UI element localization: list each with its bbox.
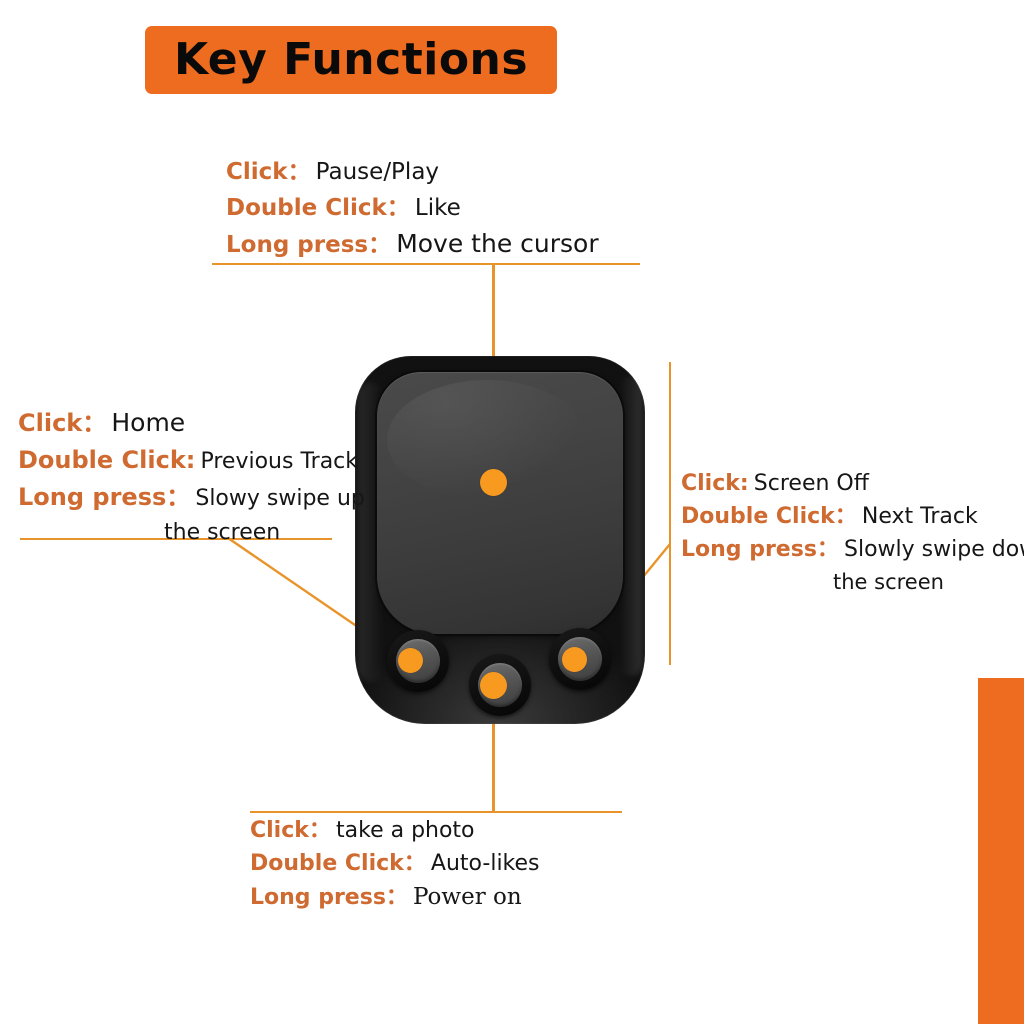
annotation-row: Click： take a photo <box>250 815 540 848</box>
corner-accent-block <box>978 678 1024 1024</box>
connector-line-bottom-horizontal <box>250 811 622 813</box>
annotation-row: Long press： Move the cursor <box>226 227 599 264</box>
marker-dot-right-button <box>562 647 587 672</box>
title-banner: Key Functions <box>145 26 557 94</box>
diagram-canvas: Key Functions Click： <box>0 0 1024 1024</box>
action-value-double-click: Like <box>415 195 461 221</box>
action-label-long-press: Long press： <box>250 885 408 910</box>
annotation-right-button: Click: Screen Off Double Click： Next Tra… <box>681 468 1024 597</box>
action-label-long-press: Long press： <box>226 232 391 258</box>
action-label-click: Click： <box>226 159 311 185</box>
action-label-long-press: Long press： <box>681 537 839 562</box>
action-label-long-press: Long press： <box>18 483 190 511</box>
page-title: Key Functions <box>174 38 528 82</box>
annotation-row: Double Click： Next Track <box>681 501 1024 534</box>
annotation-row: Double Click: Previous Track <box>18 443 365 480</box>
annotation-row: Double Click： Like <box>226 191 599 227</box>
action-value-double-click: Next Track <box>862 504 978 529</box>
annotation-left-button: Click： Home Double Click: Previous Track… <box>18 406 365 548</box>
action-label-double-click: Double Click： <box>681 504 857 529</box>
remote-control-device <box>355 356 645 724</box>
action-value-long-press: Slowy swipe up <box>195 486 365 511</box>
marker-dot-left-button <box>398 648 423 673</box>
action-label-double-click: Double Click： <box>226 195 410 221</box>
action-value-click: Screen Off <box>754 471 869 496</box>
annotation-row: Long press： Slowly swipe down <box>681 534 1024 567</box>
annotation-row: Long press： Slowy swipe up <box>18 480 365 517</box>
annotation-row: Click： Pause/Play <box>226 155 599 191</box>
action-value-long-press-continuation: the screen <box>18 517 365 548</box>
action-value-click: take a photo <box>336 818 475 843</box>
annotation-row: Double Click： Auto-likes <box>250 848 540 881</box>
action-value-long-press: Slowly swipe down <box>844 537 1024 562</box>
action-value-long-press: Power on <box>413 884 522 910</box>
annotation-row: Click： Home <box>18 406 365 443</box>
touchpad-surface[interactable] <box>377 372 623 634</box>
action-value-double-click: Previous Track <box>200 449 358 474</box>
action-value-long-press: Move the cursor <box>396 229 598 258</box>
action-value-double-click: Auto-likes <box>431 851 540 876</box>
annotation-touchpad: Click： Pause/Play Double Click： Like Lon… <box>226 155 599 264</box>
action-value-click: Pause/Play <box>316 159 439 185</box>
marker-dot-center-button <box>480 672 507 699</box>
action-label-double-click: Double Click: <box>18 446 195 474</box>
action-label-double-click: Double Click： <box>250 851 426 876</box>
marker-dot-touchpad <box>480 469 507 496</box>
action-label-click: Click： <box>250 818 331 843</box>
action-value-click: Home <box>111 408 185 437</box>
action-label-click: Click: <box>681 471 749 496</box>
action-label-click: Click： <box>18 409 106 437</box>
annotation-row: Long press： Power on <box>250 881 540 915</box>
annotation-row: Click: Screen Off <box>681 468 1024 501</box>
action-value-long-press-continuation: the screen <box>681 567 1024 597</box>
annotation-center-button: Click： take a photo Double Click： Auto-l… <box>250 815 540 915</box>
